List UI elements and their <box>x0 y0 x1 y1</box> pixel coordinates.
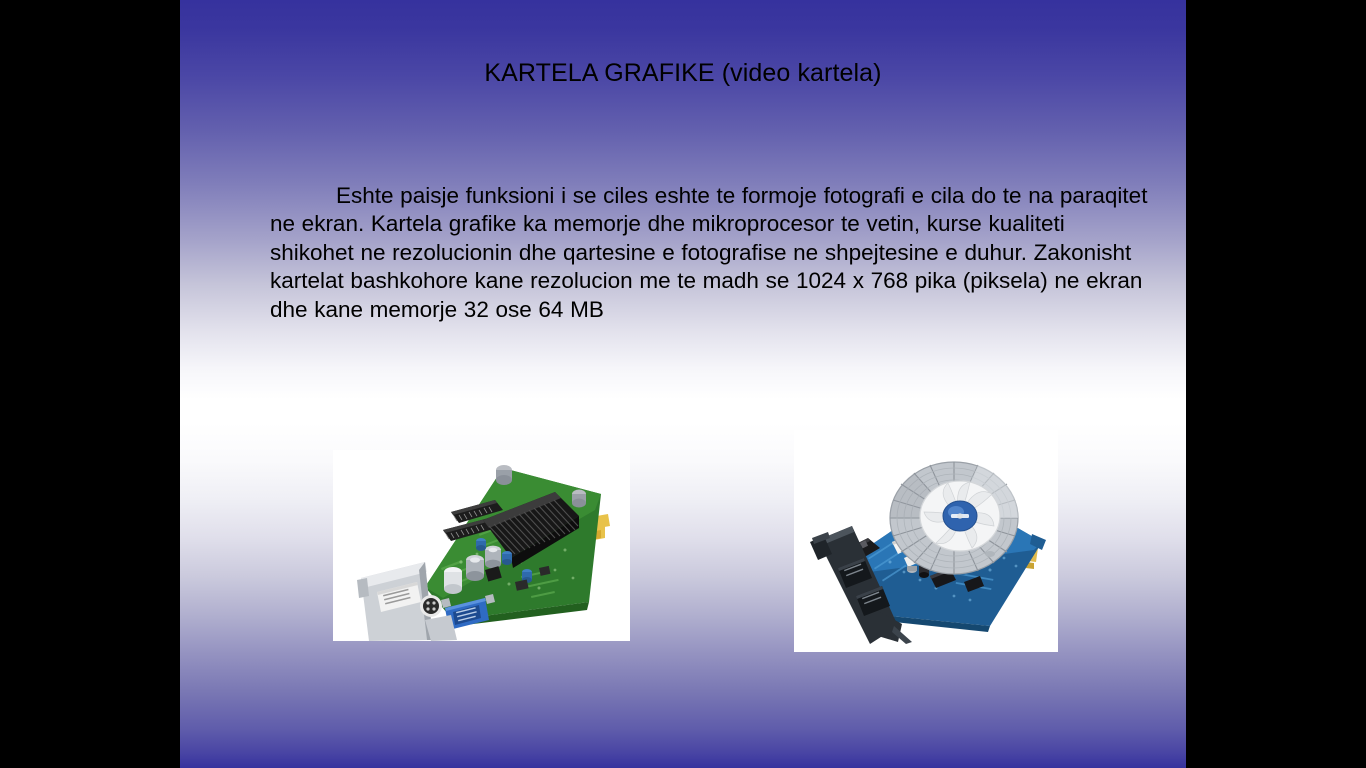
image-blue-graphics-card-with-fan <box>794 430 1058 652</box>
slide-title: KARTELA GRAFIKE (video kartela) <box>180 58 1186 88</box>
presentation-viewport: KARTELA GRAFIKE (video kartela) Eshte pa… <box>0 0 1366 768</box>
green-pci-graphics-card-illustration <box>333 450 630 641</box>
slide-body-text: Eshte paisje funksioni i se ciles eshte … <box>270 182 1150 324</box>
letterbox-bar-right <box>1186 0 1366 768</box>
letterbox-bar-left <box>0 0 180 768</box>
image-green-pci-graphics-card <box>333 450 630 641</box>
blue-graphics-card-with-fan-illustration <box>794 430 1058 652</box>
slide-canvas: KARTELA GRAFIKE (video kartela) Eshte pa… <box>180 0 1186 768</box>
